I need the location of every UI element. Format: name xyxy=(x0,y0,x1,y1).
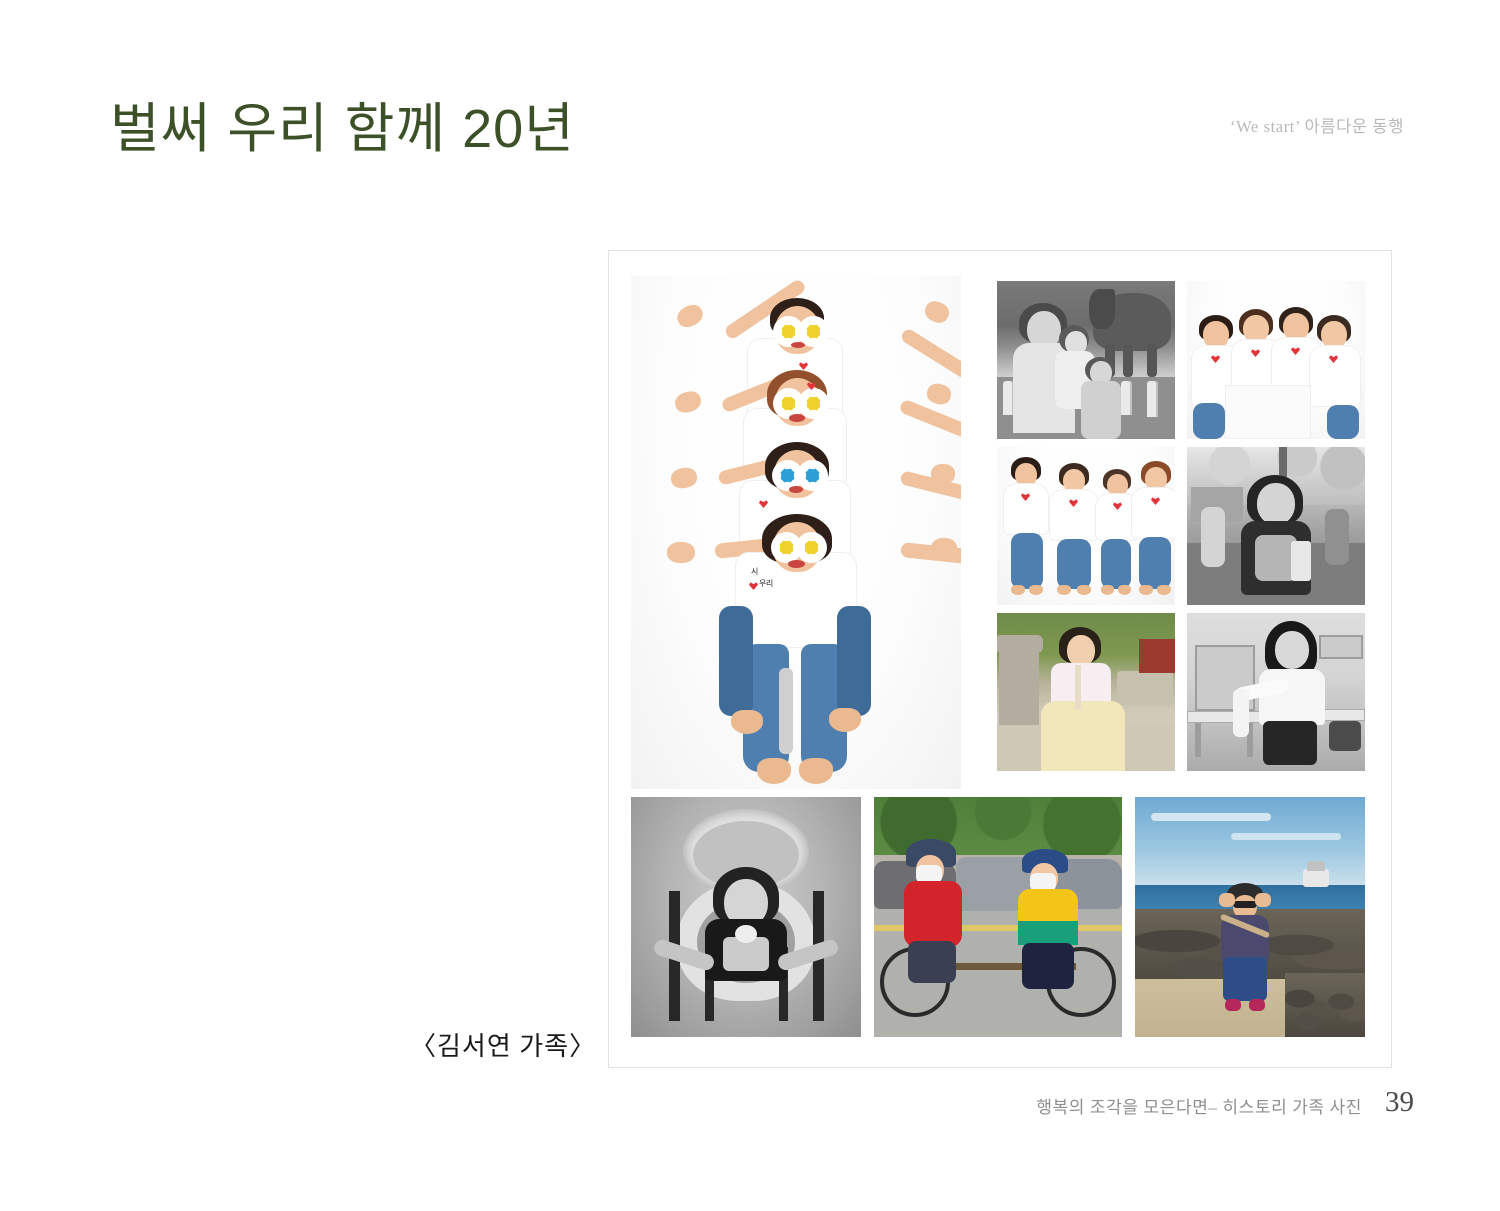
photo-hanbok-portrait xyxy=(997,613,1175,771)
footer-note: 행복의 조각을 모은다면– 히스토리 가족 사진 xyxy=(1036,1093,1362,1118)
page-number: 39 xyxy=(1385,1086,1414,1119)
photo-collage-frame: 시 우리 xyxy=(608,250,1392,1068)
photo-seaside-rocks-pose xyxy=(1135,797,1365,1037)
photo-child-on-potty-chair xyxy=(631,797,861,1037)
photo-girl-in-park xyxy=(1187,447,1365,605)
photo-family-four-leaning xyxy=(1187,281,1365,439)
page-title: 벌써 우리 함께 20년 xyxy=(110,98,575,160)
photo-classroom-activity xyxy=(1187,613,1365,771)
photo-family-four-standing xyxy=(997,447,1175,605)
photo-zoo-mother-children xyxy=(997,281,1175,439)
photo-family-stacked-flower-glasses: 시 우리 xyxy=(631,276,961,789)
photo-caption: 〈김서연 가족〉 xyxy=(410,1026,596,1063)
photo-tandem-bicycle xyxy=(874,797,1122,1037)
header-tagline: ‘We start’ 아름다운 동행 xyxy=(1230,113,1404,137)
